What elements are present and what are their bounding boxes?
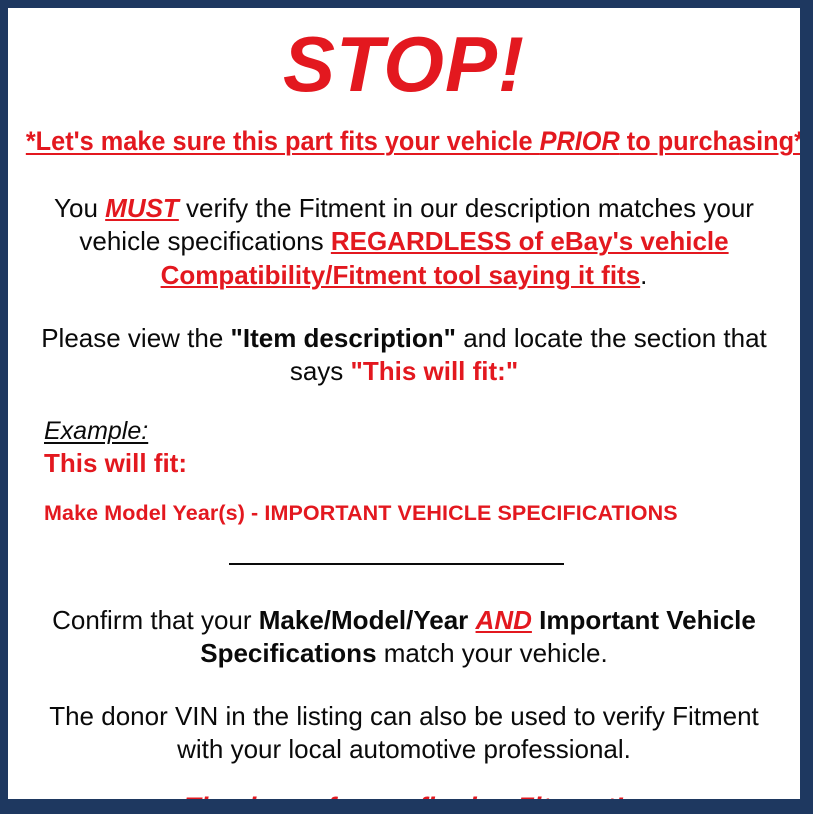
example-spec-line: Make Model Year(s) - IMPORTANT VEHICLE S… [44,501,800,526]
stop-headline: STOP! [8,8,800,103]
must-emphasis: MUST [105,193,179,223]
subtitle-text-before: *Let's make sure this part fits your veh… [26,126,540,156]
confirm-para-seg2 [468,605,475,635]
fitment-notice-card: STOP! *Let's make sure this part fits yo… [8,8,800,799]
subtitle-prior-emphasis: PRIOR [540,126,620,156]
subtitle-warning-line: *Let's make sure this part fits your veh… [26,103,782,156]
section-divider-rule [229,563,564,565]
paragraph-confirm-match: Confirm that your Make/Model/Year AND Im… [8,604,800,671]
this-will-fit-emphasis: "This will fit:" [351,356,519,386]
thank-you-line: Thank you for confirming Fitment! [8,767,800,799]
confirm-para-seg1: Confirm that your [52,605,259,635]
confirm-wrap: Confirm that your Make/Model/Year AND Im… [8,570,800,671]
example-block: Example: This will fit: Make Model Year(… [8,388,800,525]
must-para-seg1: You [54,193,105,223]
and-emphasis: AND [476,605,532,635]
subtitle-text-after: to purchasing* [620,126,800,156]
divider-wrap [8,526,800,570]
paragraph-must-verify: You MUST verify the Fitment in our descr… [8,156,800,292]
example-fit-heading: This will fit: [44,449,800,479]
itemdesc-para-seg1: Please view the [41,323,230,353]
paragraph-donor-vin: The donor VIN in the listing can also be… [8,700,800,767]
item-description-emphasis: "Item description" [231,323,456,353]
notice-outer-frame: STOP! *Let's make sure this part fits yo… [0,0,813,814]
example-label-row: Example: [44,418,800,446]
example-label: Example: [44,418,148,446]
paragraph-item-description: Please view the "Item description" and l… [8,292,800,389]
confirm-para-seg4: match your vehicle. [377,638,608,668]
make-model-year-emphasis: Make/Model/Year [259,605,469,635]
must-para-seg3: . [640,260,647,290]
